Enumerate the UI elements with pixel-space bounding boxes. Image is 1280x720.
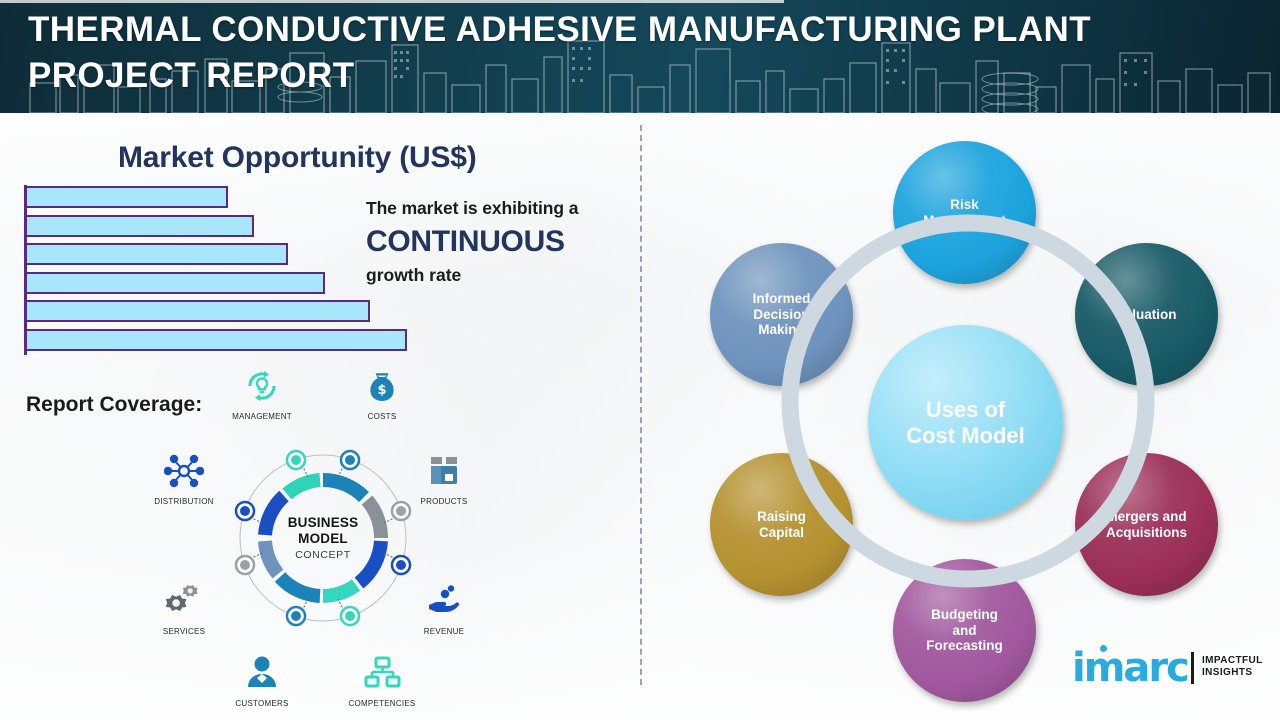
hand-coins-icon [392, 578, 496, 624]
blurb-line-1: The market is exhibiting a [366, 198, 636, 219]
logo-tagline: IMPACTFUL INSIGHTS [1202, 655, 1263, 679]
coverage-item-costs[interactable]: $ COSTS [330, 363, 434, 421]
coverage-item-products[interactable]: PRODUCTS [392, 448, 496, 506]
coverage-item-customers[interactable]: CUSTOMERS [210, 650, 314, 708]
imarc-logo[interactable]: imarc IMPACTFUL INSIGHTS [1072, 648, 1272, 698]
bar-2 [27, 215, 254, 237]
blurb-line-2: CONTINUOUS [366, 225, 636, 259]
growth-blurb: The market is exhibiting a CONTINUOUS gr… [366, 198, 636, 286]
business-model-diagram: BUSINESS MODEL CONCEPT MANAGEMENT [120, 363, 520, 720]
bar-1 [27, 186, 228, 208]
market-opportunity-title: Market Opportunity (US$) [118, 141, 477, 175]
logo-tagline-line-1: IMPACTFUL [1202, 655, 1263, 667]
blurb-line-3: growth rate [366, 265, 636, 286]
left-panel: Market Opportunity (US$) The market is e… [0, 113, 640, 720]
right-panel [640, 113, 1280, 720]
bar-4 [27, 272, 325, 294]
money-bag-icon: $ [330, 363, 434, 409]
logo-dot-icon [1100, 645, 1107, 652]
coverage-item-competencies[interactable]: COMPETENCIES [330, 650, 434, 708]
user-person-icon [210, 650, 314, 696]
box-package-icon [392, 448, 496, 494]
header-accent-bar [0, 0, 784, 3]
gears-icon [132, 578, 236, 624]
bar-6 [27, 329, 407, 351]
coverage-item-services[interactable]: SERVICES [132, 578, 236, 636]
coverage-label-management: MANAGEMENT [210, 412, 314, 421]
cost-model-connector-ring [698, 121, 1238, 681]
coverage-label-competencies: COMPETENCIES [330, 699, 434, 708]
coverage-item-management[interactable]: MANAGEMENT [210, 363, 314, 421]
coverage-label-customers: CUSTOMERS [210, 699, 314, 708]
coverage-label-products: PRODUCTS [392, 497, 496, 506]
page-title: THERMAL CONDUCTIVE ADHESIVE MANUFACTURIN… [28, 7, 1268, 99]
coverage-label-costs: COSTS [330, 412, 434, 421]
bar-3 [27, 243, 288, 265]
coverage-label-distribution: DISTRIBUTION [132, 497, 236, 506]
coverage-item-revenue[interactable]: REVENUE [392, 578, 496, 636]
lightbulb-recycle-icon [210, 363, 314, 409]
coverage-label-revenue: REVENUE [392, 627, 496, 636]
logo-divider-rule [1191, 652, 1194, 684]
business-model-ring [228, 443, 418, 633]
network-nodes-icon [132, 448, 236, 494]
panel-divider [640, 125, 642, 685]
svg-text:$: $ [377, 383, 386, 398]
coverage-item-distribution[interactable]: DISTRIBUTION [132, 448, 236, 506]
logo-tagline-line-2: INSIGHTS [1202, 667, 1263, 679]
bar-5 [27, 300, 370, 322]
page-header: THERMAL CONDUCTIVE ADHESIVE MANUFACTURIN… [0, 0, 1280, 113]
coverage-label-services: SERVICES [132, 627, 236, 636]
org-chart-icon [330, 650, 434, 696]
